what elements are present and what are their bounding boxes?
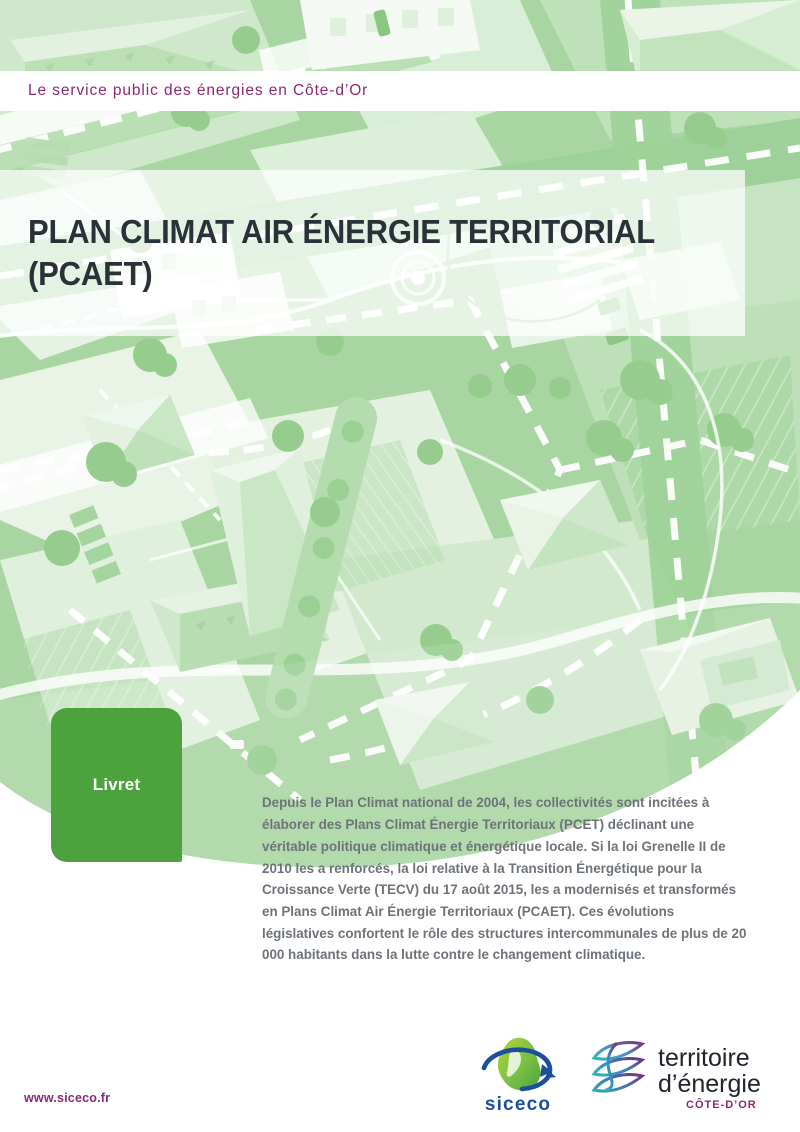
tagline-banner: Le service public des énergies en Côte-d… (0, 71, 800, 111)
title-line-2: (PCAET) (28, 253, 716, 295)
territoire-wordmark-line-2: d’énergie (658, 1070, 761, 1098)
siceco-logo: siceco (464, 1032, 572, 1116)
page-title: PLAN CLIMAT AIR ÉNERGIE TERRITORIAL (PCA… (0, 170, 760, 336)
territoire-subtitle: CÔTE-D’OR (686, 1098, 757, 1111)
intro-paragraph: Depuis le Plan Climat national de 2004, … (262, 792, 748, 966)
document-page: Le service public des énergies en Côte-d… (0, 0, 800, 1132)
siceco-wordmark: siceco (485, 1094, 551, 1115)
energy-blades-icon (594, 1043, 642, 1092)
logo-row: siceco (464, 1032, 770, 1116)
website-url-link[interactable]: www.siceco.fr (24, 1091, 110, 1105)
tagline-text: Le service public des énergies en Côte-d… (28, 82, 368, 100)
livret-badge: Livret (51, 708, 182, 862)
title-line-1: PLAN CLIMAT AIR ÉNERGIE TERRITORIAL (28, 211, 716, 253)
territoire-denergie-logo: territoire d’énergie CÔTE-D’OR (586, 1032, 770, 1116)
territoire-wordmark-line-1: territoire (658, 1044, 750, 1072)
page-footer: www.siceco.fr (0, 982, 800, 1132)
livret-badge-label: Livret (93, 775, 141, 795)
